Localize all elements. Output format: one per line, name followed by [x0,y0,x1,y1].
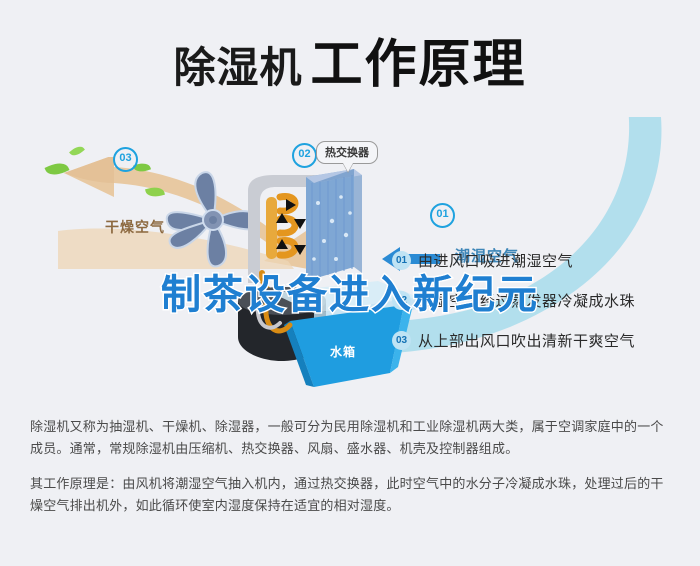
diagram-badge-03: 03 [113,147,138,172]
page-title: 除湿机工作原理 [0,22,700,97]
paragraph-1: 除湿机又称为抽湿机、干燥机、除湿器，一般可分为民用除湿机和工业除湿机两大类，属于… [30,416,676,460]
list-item: 03 从上部出风口吹出清新干爽空气 [392,325,692,356]
step-list: 01 由进风口吸进潮湿空气 02 潮湿空气经过蒸发器冷凝成水珠 03 从上部出风… [392,245,692,365]
list-item: 02 潮湿空气经过蒸发器冷凝成水珠 [392,285,692,316]
step-text-03: 从上部出风口吹出清新干爽空气 [418,330,635,351]
water-tank-label: 水箱 [330,343,356,360]
step-badge-01: 01 [392,251,411,270]
diagram-badge-01: 01 [430,203,455,228]
page-title-part1: 除湿机 [173,44,302,91]
heat-exchanger-callout: 热交换器 [316,141,378,164]
list-item: 01 由进风口吸进潮湿空气 [392,245,692,276]
body-copy: 除湿机又称为抽湿机、干燥机、除湿器，一般可分为民用除湿机和工业除湿机两大类，属于… [30,416,676,530]
step-text-01: 由进风口吸进潮湿空气 [418,250,573,271]
step-text-02: 潮湿空气经过蒸发器冷凝成水珠 [418,290,635,311]
dry-air-label: 干燥空气 [105,217,165,237]
page-title-part2: 工作原理 [311,36,527,94]
diagram-badge-02: 02 [292,143,317,168]
step-badge-03: 03 [392,331,411,350]
step-badge-02: 02 [392,291,411,310]
paragraph-2: 其工作原理是：由风机将潮湿空气抽入机内，通过热交换器，此时空气中的水分子冷凝成水… [30,473,676,517]
